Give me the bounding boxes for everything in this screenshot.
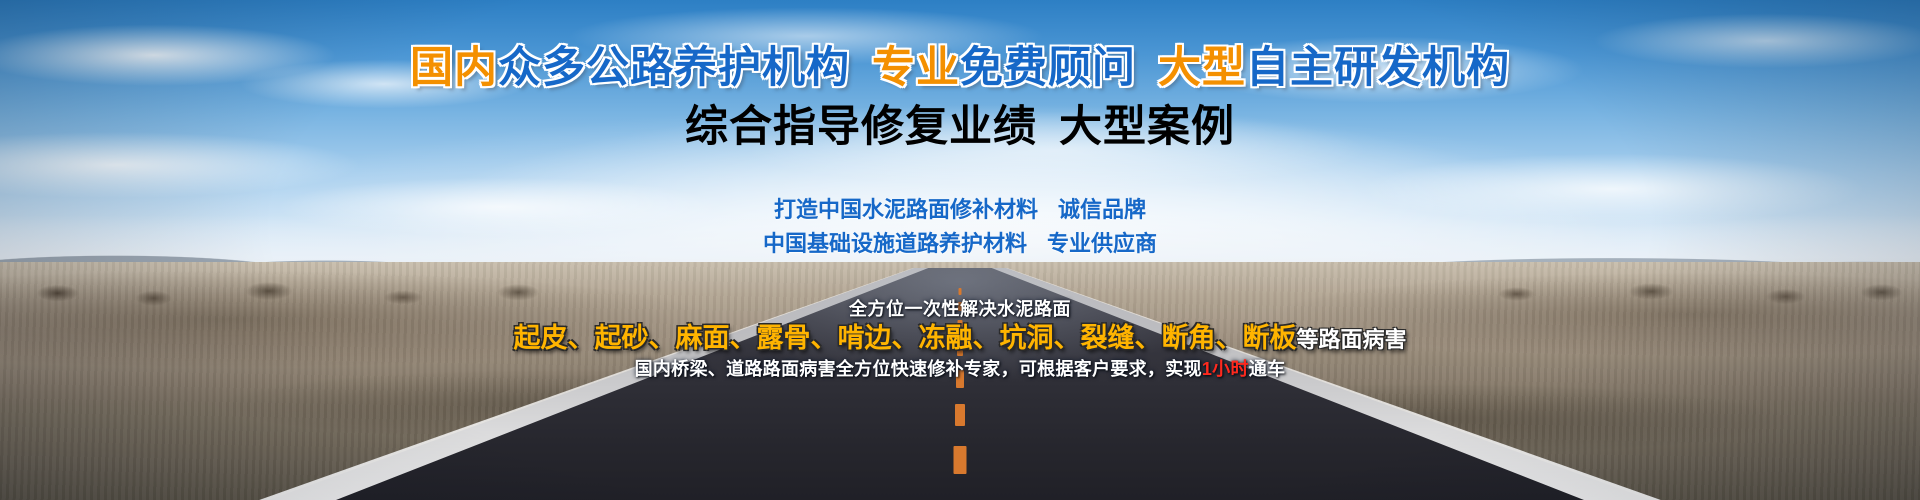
subtitle-2-main: 中国基础设施道路养护材料: [763, 231, 1027, 256]
headline2-seg-anli: 案例: [1147, 103, 1235, 151]
headline2-seg-daxing: 大型: [1059, 103, 1147, 151]
disease-suffix: 等路面病害: [1296, 327, 1406, 352]
road-center-dash: [955, 404, 965, 426]
headline-seg-zhongduo: 众多公路养护机构: [498, 44, 850, 92]
road-center-dash: [954, 446, 967, 474]
headline-line-1: 国内众多公路养护机构专业免费顾问大型自主研发机构: [0, 40, 1920, 96]
bottom-text-b: 通车: [1249, 359, 1286, 379]
road-center-dash: [959, 288, 962, 295]
subtitle-1-main: 打造中国水泥路面修补材料: [774, 197, 1038, 222]
disease-names: 起皮、起砂、麻面、露骨、啃边、冻融、坑洞、裂缝、断角、断板: [513, 323, 1296, 353]
headline-seg-zhuanye: 专业: [872, 44, 960, 92]
subtitle-2-supplier: 专业供应商: [1047, 231, 1157, 256]
headline-seg-mianfei: 免费顾问: [960, 44, 1136, 92]
bottom-text-highlight: 1小时: [1202, 359, 1249, 379]
bottom-text-a: 国内桥梁、道路路面病害全方位快速修补专家，可根据客户要求，实现: [635, 359, 1202, 379]
headline-line-2: 综合指导修复业绩大型案例: [0, 99, 1920, 155]
road-text-bottom: 国内桥梁、道路路面病害全方位快速修补专家，可根据客户要求，实现1小时通车: [0, 355, 1920, 381]
headline-seg-zizhu: 自主研发机构: [1246, 44, 1510, 92]
subtitle-line-1: 打造中国水泥路面修补材料诚信品牌: [0, 192, 1920, 224]
headline-seg-daxing: 大型: [1158, 44, 1246, 92]
headline2-seg-zonghe: 综合指导修复业绩: [685, 103, 1037, 151]
headline-seg-guonei: 国内: [410, 44, 498, 92]
subtitle-line-2: 中国基础设施道路养护材料专业供应商: [0, 226, 1920, 258]
promo-banner: 国内众多公路养护机构专业免费顾问大型自主研发机构 综合指导修复业绩大型案例 打造…: [0, 0, 1920, 500]
road-text-disease-list: 起皮、起砂、麻面、露骨、啃边、冻融、坑洞、裂缝、断角、断板等路面病害: [0, 316, 1920, 355]
subtitle-1-brand: 诚信品牌: [1058, 197, 1146, 222]
